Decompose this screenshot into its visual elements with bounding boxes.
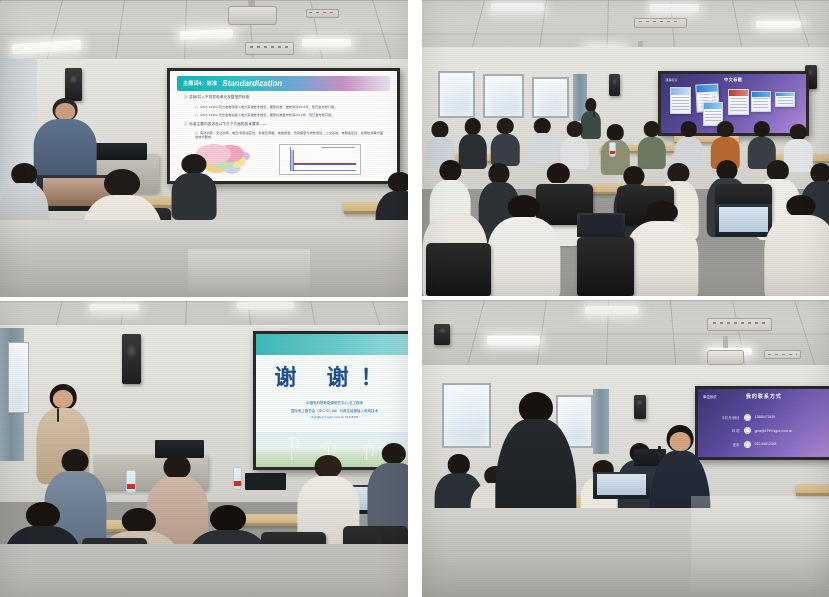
slide-bullet-4: ❑标准主要内容涉及以下几个方面的技术要求—— xyxy=(184,122,267,127)
contact-value: 13888473429 xyxy=(755,415,776,419)
photo-bottom-right: 单位标识 我的联系方式 手机号/微信 13888473429 邮 箱 gma@E… xyxy=(422,300,829,597)
ac-vent xyxy=(707,318,772,331)
wall-speaker xyxy=(122,334,140,384)
water-bottle xyxy=(233,467,243,491)
ac-vent xyxy=(245,42,294,55)
laptop-computer xyxy=(577,213,626,237)
av-monitor xyxy=(245,473,286,491)
microphone xyxy=(593,110,595,119)
slide-header-band xyxy=(256,334,408,355)
student-desk xyxy=(796,484,829,496)
contact-line-3: chgx@epri.sgcc.com.cn 010-8281 xyxy=(265,415,403,419)
student xyxy=(638,121,666,168)
student-foreground xyxy=(764,195,829,296)
thank-you-headline: 谢 谢！ xyxy=(256,360,408,392)
led-display: 单位标识 我的联系方式 手机号/微信 13888473429 邮 箱 gma@E… xyxy=(695,386,829,460)
photo-bottom-left: 谢 谢！ 中国电科院新能源研究中心 总工程师 国际电工委员会（IEC SC 8A… xyxy=(0,301,408,597)
student xyxy=(528,118,556,162)
wall-speaker xyxy=(65,68,81,101)
window xyxy=(8,342,28,413)
photo-collage: 主题词4：标准 Standardization ❑并网/并入不同发电单元及整型的… xyxy=(0,0,829,597)
contact-label: 座机 xyxy=(714,442,740,447)
speaker-face xyxy=(670,432,691,451)
panel-light xyxy=(756,21,801,28)
wall-speaker xyxy=(609,74,620,96)
slide-header-cn: 主题词4：标准 xyxy=(183,80,217,87)
microphone xyxy=(658,446,661,461)
doc-card xyxy=(670,87,692,114)
photo-top-right: 课程标识 中文标题 xyxy=(422,0,829,296)
contact-line-2: 国际电工委员会（IEC SC 8A）可再生能源接入电网技术 xyxy=(265,408,403,413)
office-chair xyxy=(577,237,634,296)
projector-mount xyxy=(723,336,728,348)
student xyxy=(560,121,588,168)
line-chart-figure xyxy=(279,144,361,175)
contact-value: gma@EPRI.sgcc.com.cn xyxy=(755,429,793,433)
window xyxy=(442,383,491,448)
microphone xyxy=(57,408,59,423)
slide-header: 主题词4：标准 Standardization xyxy=(177,76,390,91)
telephone-icon xyxy=(744,441,751,448)
contact-row-landline: 座机 010-88012345 xyxy=(714,441,777,448)
contact-label: 手机号/微信 xyxy=(714,415,740,420)
wind-turbine xyxy=(291,439,292,460)
contact-label: 邮 箱 xyxy=(714,428,740,433)
floor xyxy=(0,544,408,597)
panel-light xyxy=(90,304,139,311)
window xyxy=(532,77,569,118)
floor-reflection xyxy=(188,249,310,297)
slide-bullet-2: ❑GB/T 19963 风力发电场接入电力系统技术规定，国家标准，发布时间201… xyxy=(195,104,337,109)
doc-card xyxy=(728,89,750,115)
display-content: 单位标识 我的联系方式 手机号/微信 13888473429 邮 箱 gma@E… xyxy=(698,389,829,457)
display-title: 我的联系方式 xyxy=(698,393,829,400)
contact-line-1: 中国电科院新能源研究中心 总工程师 xyxy=(265,400,403,405)
floor-reflection xyxy=(691,496,829,597)
student-head xyxy=(104,169,140,197)
slide-bullet-5: ❑有功功率、无功功率、电压/频率适应性、低电压穿越、电能质量、仿真模型与参数测试… xyxy=(195,131,385,140)
panel-light xyxy=(179,29,232,40)
doc-card xyxy=(751,91,771,112)
panel-light xyxy=(302,39,351,47)
slide-header-en: Standardization xyxy=(222,79,282,88)
ac-vent xyxy=(306,9,339,18)
podium-monitor xyxy=(94,143,147,161)
panel-light xyxy=(585,306,638,314)
laptop-computer xyxy=(593,472,650,499)
slide-bullet-3: ❑GB/T 19964 光伏发电站接入电力系统技术规定，国家标准发布时间2012… xyxy=(195,112,334,117)
photo-top-left: 主题词4：标准 Standardization ❑并网/并入不同发电单元及整型的… xyxy=(0,0,408,297)
phone-icon xyxy=(744,414,751,421)
wall-speaker xyxy=(634,395,646,419)
panel-light xyxy=(491,3,544,11)
panel-light xyxy=(487,336,540,345)
curtain xyxy=(593,389,609,454)
speaker-face xyxy=(53,390,73,408)
ac-vent xyxy=(764,350,801,359)
office-chair xyxy=(426,243,491,296)
contact-row-phone: 手机号/微信 13888473429 xyxy=(714,414,776,421)
panel-light xyxy=(650,4,699,11)
contact-value: 010-88012345 xyxy=(755,442,777,446)
window xyxy=(483,74,524,118)
student xyxy=(491,118,519,165)
student xyxy=(674,121,702,168)
presenter-face xyxy=(55,103,75,120)
window xyxy=(438,71,475,118)
mail-icon xyxy=(744,427,751,434)
water-bottle xyxy=(126,470,136,494)
student xyxy=(171,154,216,219)
panel-light xyxy=(237,302,294,309)
student-foreground xyxy=(487,195,560,296)
water-bottle xyxy=(609,142,616,157)
wall-speaker xyxy=(434,324,450,345)
projector xyxy=(228,6,277,25)
student-foreground xyxy=(626,201,699,296)
contact-block: 中国电科院新能源研究中心 总工程师 国际电工委员会（IEC SC 8A）可再生能… xyxy=(265,400,403,421)
contact-row-email: 邮 箱 gma@EPRI.sgcc.com.cn xyxy=(714,427,793,434)
projector xyxy=(707,350,744,365)
doc-card xyxy=(775,92,795,107)
slide-bullet-1: ❑并网/并入不同发电单元及整型的标准 xyxy=(184,95,250,100)
student xyxy=(367,443,408,532)
display-title: 中文标题 xyxy=(661,77,806,83)
ac-vent xyxy=(634,18,687,28)
